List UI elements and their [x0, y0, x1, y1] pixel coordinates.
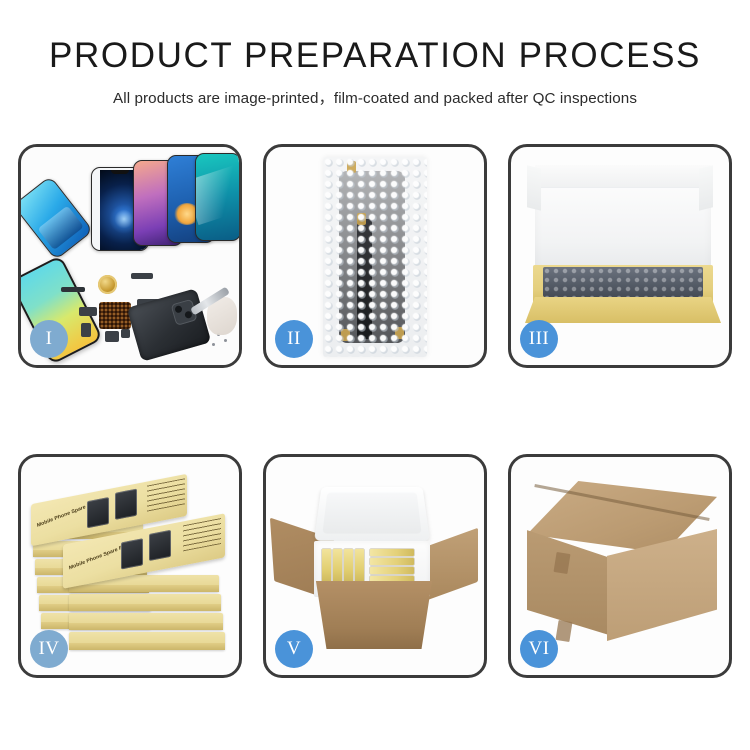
lid-flap-left [527, 165, 541, 210]
bubble-wrapped-contents [543, 267, 703, 297]
box-window-rear-a [87, 497, 109, 528]
bubble-texture [323, 157, 427, 357]
lid-flap-right [699, 165, 713, 210]
process-steps-grid: I II III [18, 144, 732, 678]
step-badge-6: VI [520, 630, 558, 668]
yellow-box-upright-3 [344, 549, 353, 583]
step-2-bubble-wrap: II [263, 144, 487, 368]
step-6-sealed-carton: VI [508, 454, 732, 678]
page-subtitle: All products are image-printed，film-coat… [0, 86, 750, 108]
antenna-strip-part [61, 287, 85, 292]
white-box-lid [535, 165, 711, 275]
flex-cable-part-a [131, 273, 153, 279]
foam-box-lid [314, 487, 430, 541]
yellow-box-flat-2 [370, 558, 414, 565]
phone-notch [111, 170, 129, 174]
stacked-box-edge-10 [69, 632, 225, 650]
step-badge-4: IV [30, 630, 68, 668]
screw-part-b [224, 339, 227, 342]
yellow-box-upright-4 [355, 549, 364, 583]
box-window-rear-b [115, 489, 137, 520]
box-window-front-b [149, 530, 171, 561]
sensor-part [121, 329, 130, 338]
box-spec-lines-rear [147, 478, 185, 511]
box-spec-lines-front [183, 518, 221, 551]
step-5-foam-carton: V [263, 454, 487, 678]
page-header: PRODUCT PREPARATION PROCESS All products… [0, 0, 750, 108]
camera-module-part [81, 323, 91, 337]
yellow-box-upright-2 [333, 549, 342, 583]
yellow-box-flat-1 [370, 549, 414, 556]
speaker-mesh-part [99, 302, 131, 329]
box-window-front-a [121, 538, 143, 569]
page-title: PRODUCT PREPARATION PROCESS [0, 38, 750, 73]
step-1-components: I [18, 144, 242, 368]
yellow-box-upright-1 [322, 549, 331, 583]
button-part [105, 331, 119, 342]
step-3-inner-box: III [508, 144, 732, 368]
stacked-box-edge-8 [69, 594, 221, 611]
yellow-box-flat-3 [370, 567, 414, 574]
bubble-wrap-bag [323, 157, 427, 357]
vibration-motor-part [98, 275, 117, 294]
step-4-boxes-stacked: Mobile Phone Spare Parts Mobile Phone Sp… [18, 454, 242, 678]
kraft-box-front-panel [525, 297, 721, 323]
screw-part-c [212, 343, 215, 346]
carton-tape-lower [556, 620, 573, 642]
step-badge-5: V [275, 630, 313, 668]
stacked-box-edge-9 [69, 613, 223, 630]
step-badge-1: I [30, 320, 68, 358]
phone-screen-teal [195, 153, 239, 241]
step-badge-3: III [520, 320, 558, 358]
flex-cable-part-c [79, 307, 97, 316]
carton-front-panel [308, 581, 440, 649]
step-badge-2: II [275, 320, 313, 358]
